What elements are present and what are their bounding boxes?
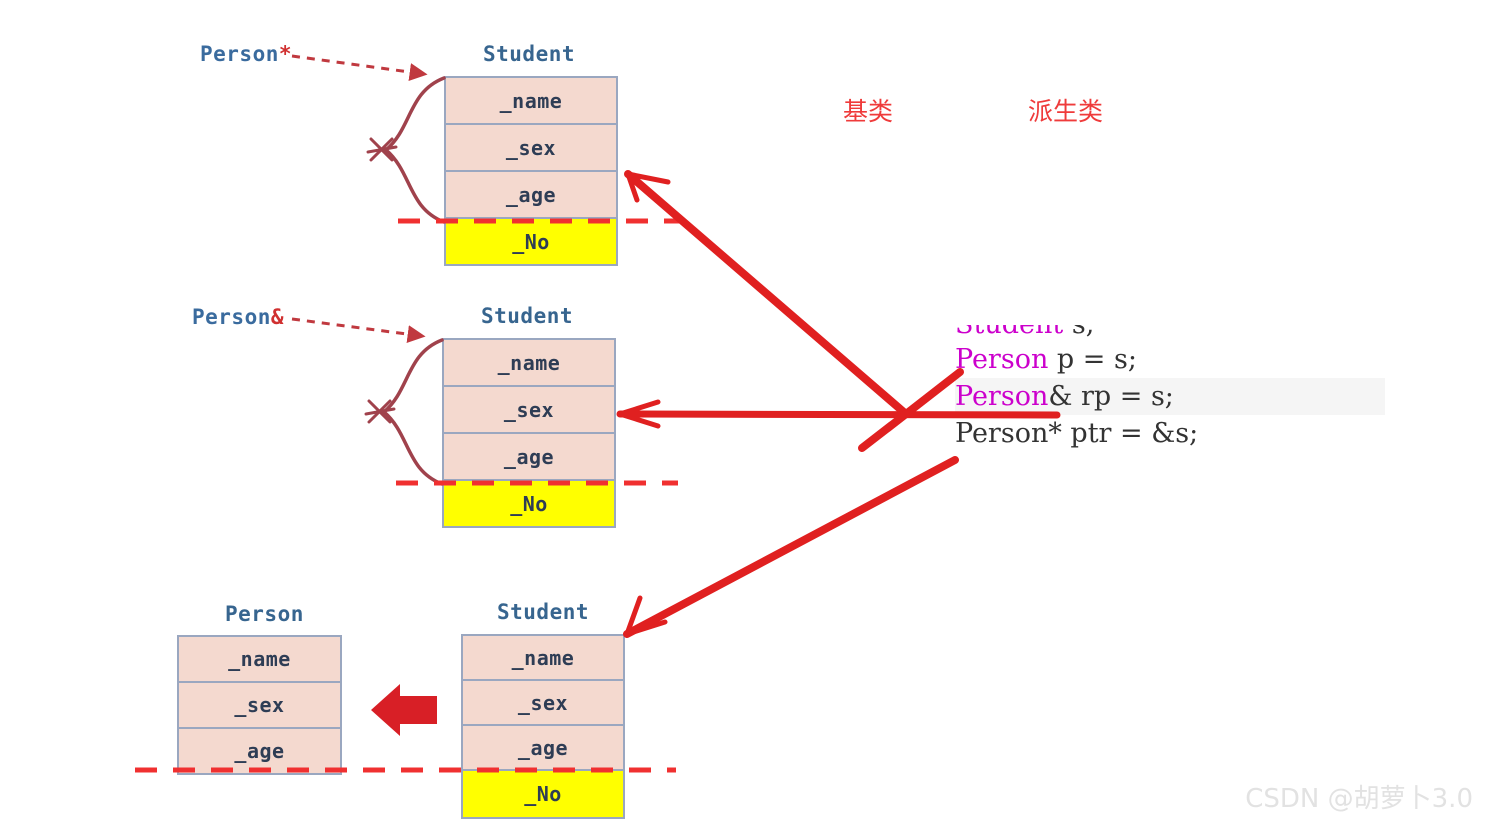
code-rest: Person* ptr = &s; xyxy=(955,418,1198,449)
red-arrow-to-pointer-box xyxy=(628,174,906,414)
class-box-student-2: _name _sex _age _No xyxy=(442,338,616,528)
code-line-4: Person* ptr = &s; xyxy=(955,415,1395,452)
member-row: _name xyxy=(463,636,623,681)
brace-1 xyxy=(386,78,444,222)
code-keyword: Person xyxy=(955,381,1048,412)
pointer-label-name: Person xyxy=(200,42,279,66)
member-row: _age xyxy=(446,172,616,219)
member-row: _age xyxy=(444,434,614,481)
pointer-label-person-ref: Person& xyxy=(192,305,284,329)
member-row: _sex xyxy=(446,125,616,172)
code-keyword: Person xyxy=(955,344,1048,375)
csdn-watermark: CSDN @胡萝卜3.0 xyxy=(1245,778,1473,815)
code-line-1: Student s; xyxy=(955,325,1395,341)
class-title-student-1: Student xyxy=(483,42,575,66)
red-arrow-tail-c xyxy=(862,414,906,448)
code-keyword: Student xyxy=(955,325,1063,340)
code-line-3: Person& rp = s; xyxy=(955,378,1385,415)
class-title-person-3: Person xyxy=(225,602,304,626)
brace-2 xyxy=(384,340,442,484)
brace-x-mark-2 xyxy=(366,401,394,422)
code-line-2: Person p = s; xyxy=(955,341,1395,378)
pointer-label-symbol: & xyxy=(271,305,284,329)
dotted-arrow-2 xyxy=(292,319,422,336)
red-arrow-tail-a xyxy=(906,372,960,414)
red-arrow-to-value-box xyxy=(627,460,955,634)
member-row-derived: _No xyxy=(444,481,614,526)
annotation-derived-class: 派生类 xyxy=(1028,92,1103,128)
member-row: _sex xyxy=(444,387,614,434)
pointer-label-symbol: * xyxy=(279,42,292,66)
pointer-label-name: Person xyxy=(192,305,271,329)
class-box-student-1: _name _sex _age _No xyxy=(444,76,618,266)
member-row-derived: _No xyxy=(446,219,616,264)
member-row: _sex xyxy=(463,681,623,726)
pointer-label-person-star: Person* xyxy=(200,42,292,66)
member-row: _name xyxy=(446,78,616,125)
member-row: _age xyxy=(179,729,340,773)
class-title-student-3: Student xyxy=(497,600,589,624)
member-row-derived: _No xyxy=(463,771,623,817)
diagram-canvas: Person* Student _name _sex _age _No Pers… xyxy=(0,0,1487,821)
member-row: _name xyxy=(444,340,614,387)
dotted-arrow-1 xyxy=(292,56,424,74)
class-box-person-3: _name _sex _age xyxy=(177,635,342,775)
class-title-student-2: Student xyxy=(481,304,573,328)
brace-x-mark-1 xyxy=(368,139,396,160)
code-snippet: Student s; Person p = s; Person& rp = s;… xyxy=(955,325,1395,452)
annotation-base-class: 基类 xyxy=(843,92,893,128)
code-rest: p = s; xyxy=(1048,344,1137,375)
member-row: _sex xyxy=(179,683,340,729)
slicing-block-arrow xyxy=(371,684,437,736)
member-row: _age xyxy=(463,726,623,771)
code-rest: s; xyxy=(1063,325,1095,340)
member-row: _name xyxy=(179,637,340,683)
class-box-student-3: _name _sex _age _No xyxy=(461,634,625,819)
code-rest: & rp = s; xyxy=(1048,381,1174,412)
